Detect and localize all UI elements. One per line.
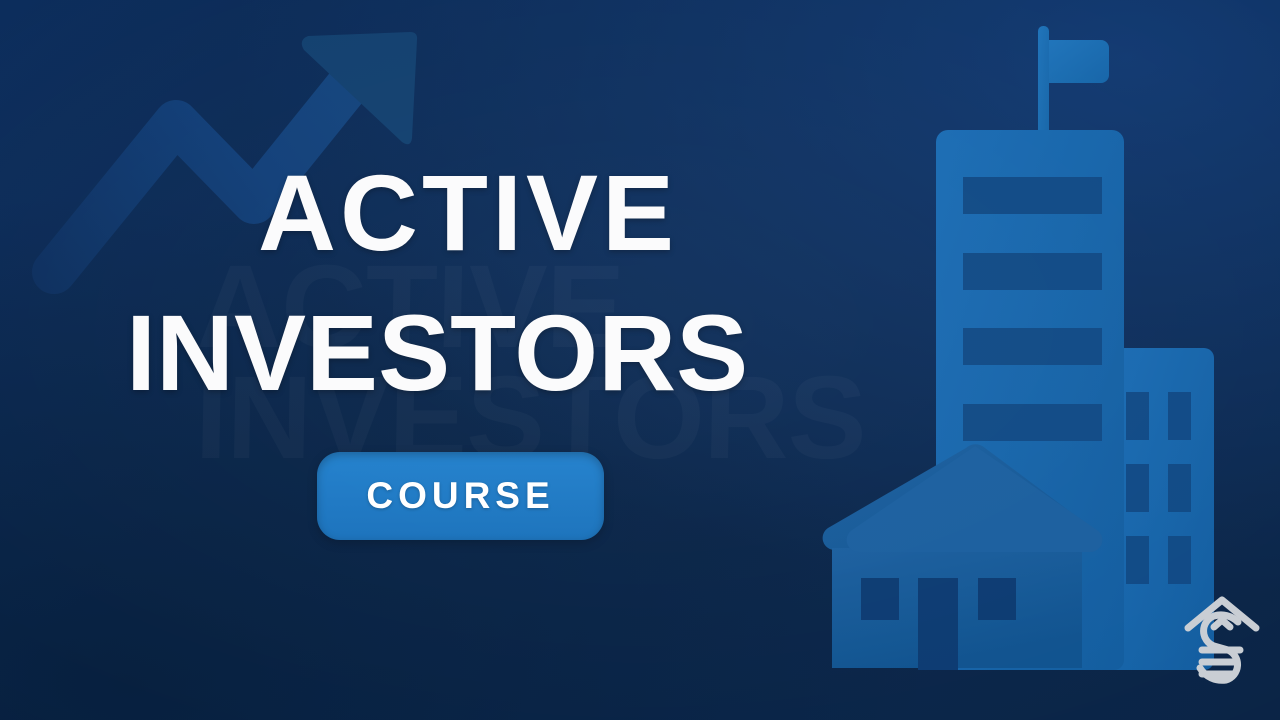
flag-icon [1038,26,1109,138]
title-line-investors: INVESTORS [126,300,748,406]
course-badge[interactable]: COURSE [317,452,604,540]
course-banner: ACTIVE INVESTORS [0,0,1280,720]
title-line-active: ACTIVE [258,160,678,266]
course-badge-label: COURSE [366,475,554,517]
house-s-logo-icon [1178,592,1266,688]
